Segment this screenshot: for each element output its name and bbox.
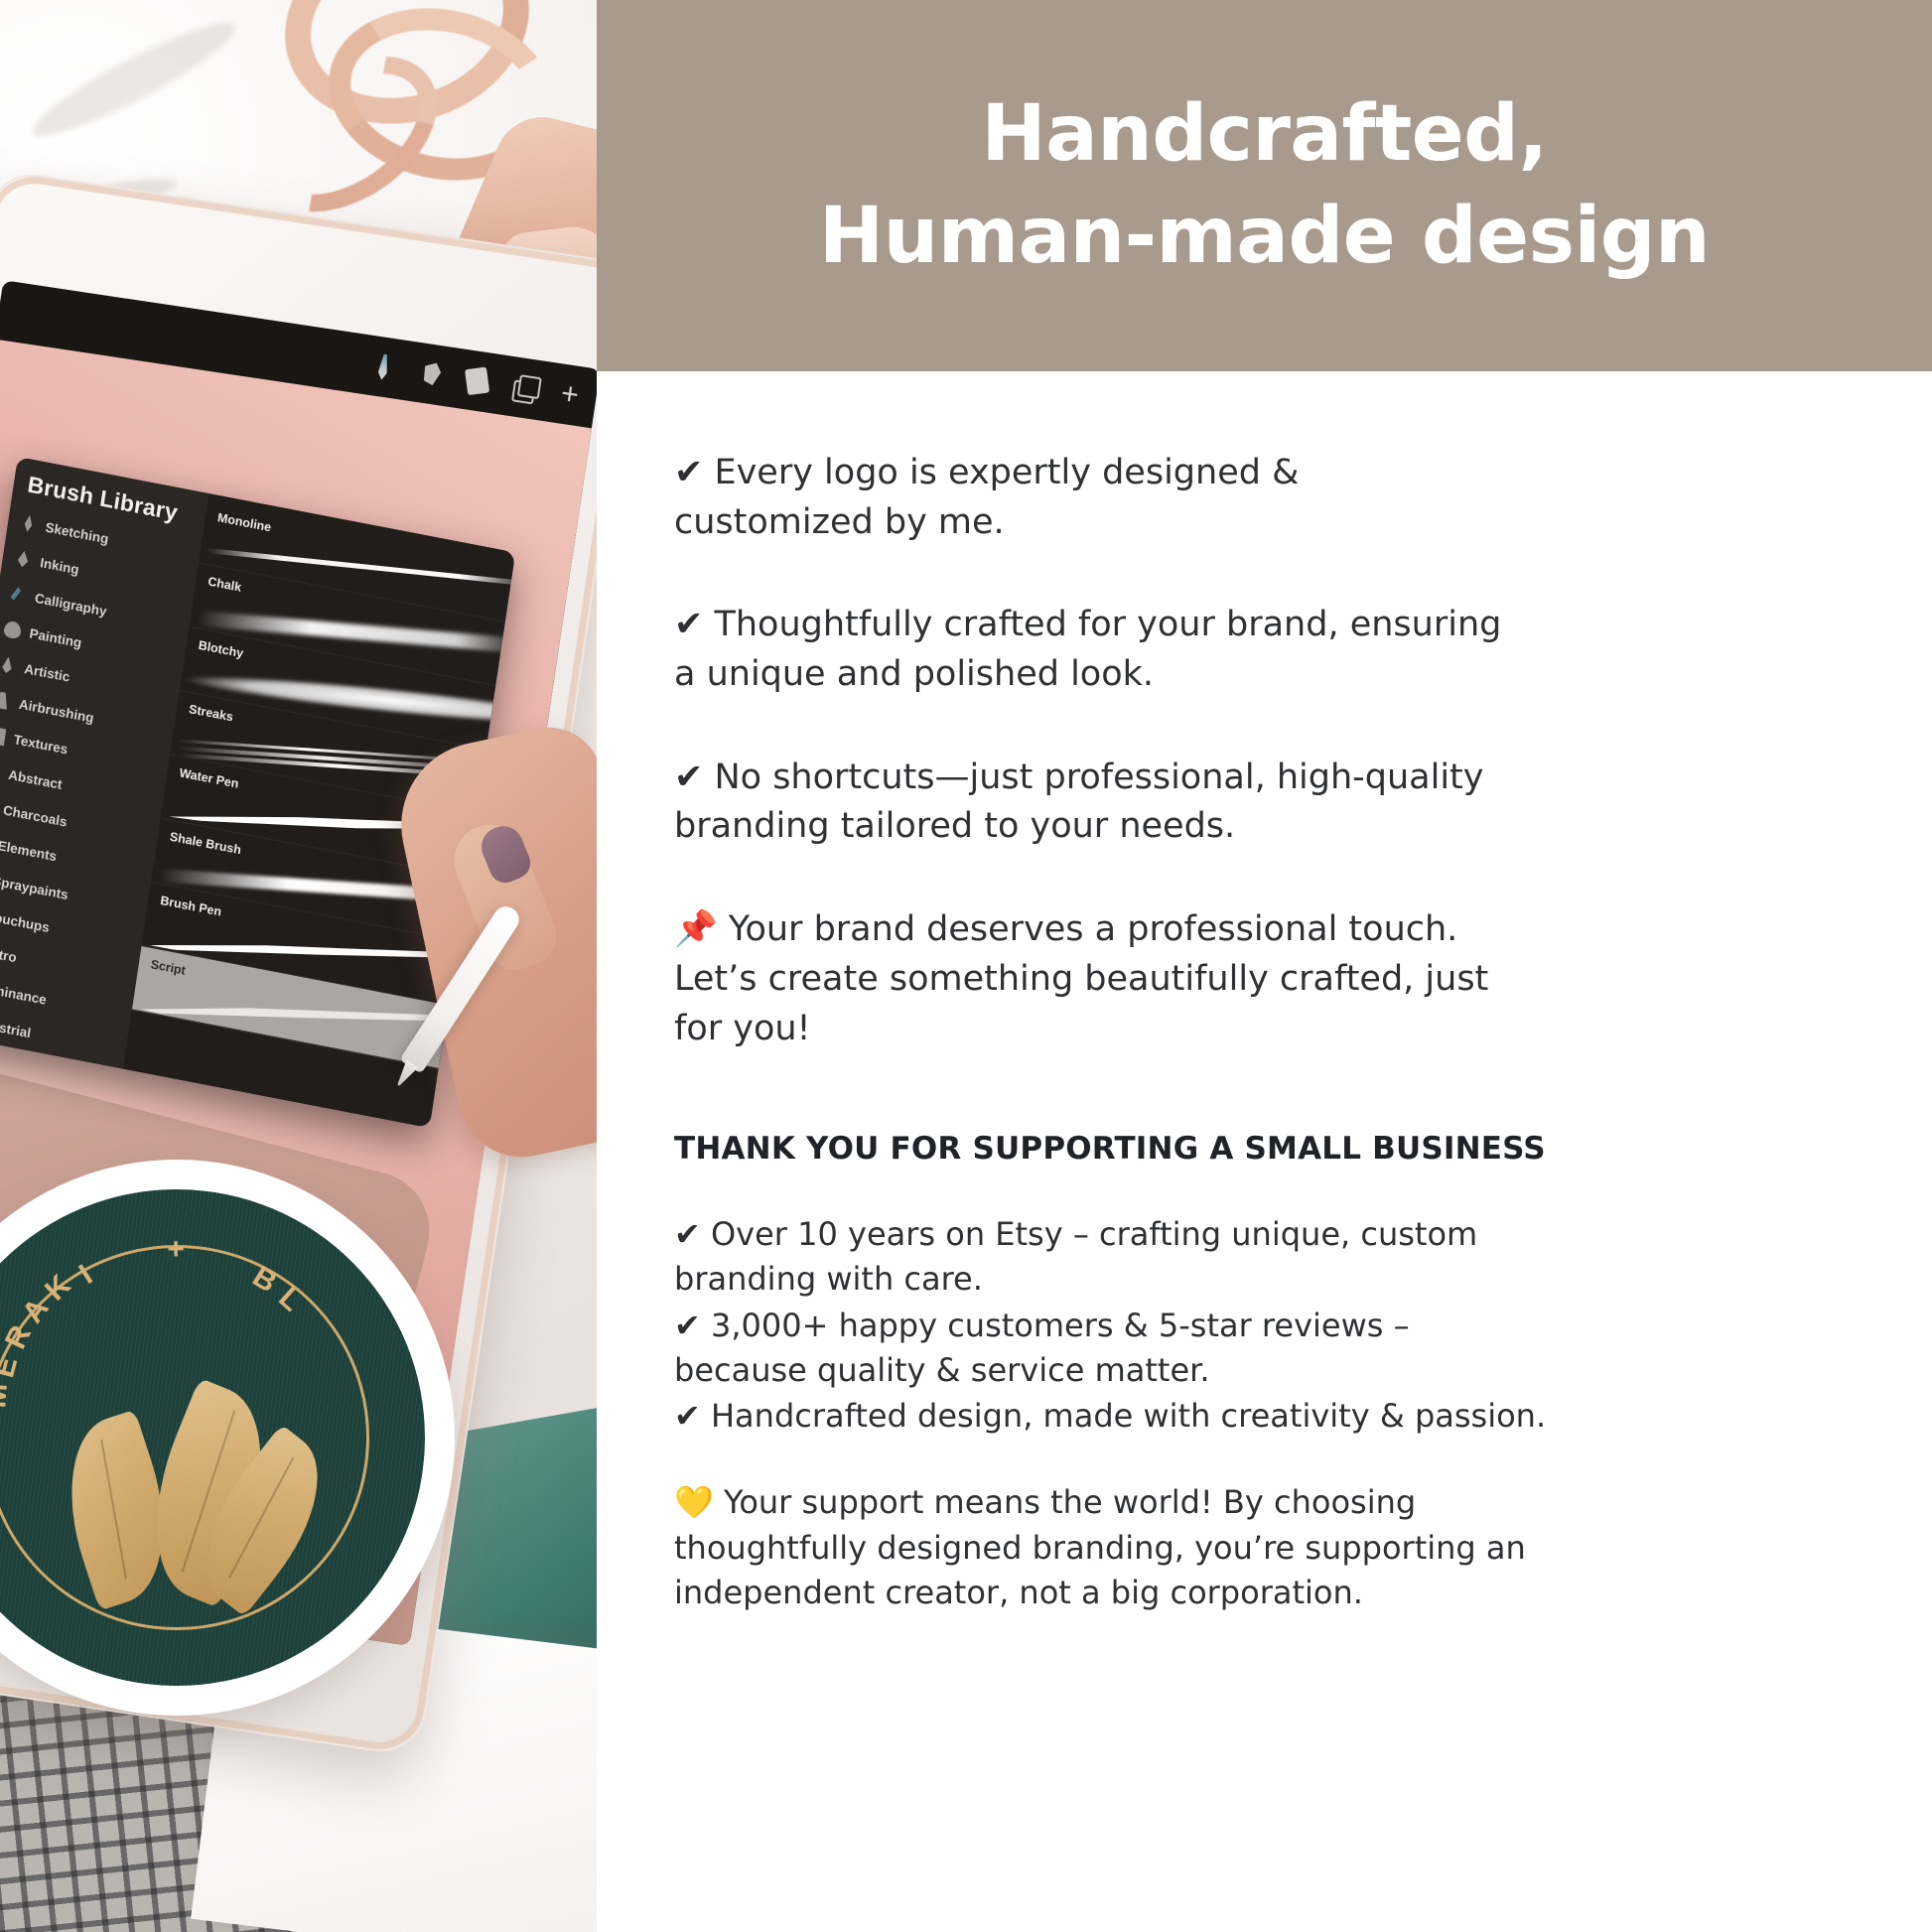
category-label: Charcoals xyxy=(2,802,68,829)
badge-letter: B xyxy=(247,1260,284,1301)
brush-label: Chalk xyxy=(207,574,243,594)
check-mark-icon: ✔ xyxy=(674,605,703,644)
category-label: Textures xyxy=(13,732,69,757)
calligraphy-icon xyxy=(8,584,27,604)
category-label: Calligraphy xyxy=(34,590,107,619)
badge-letter: + xyxy=(167,1233,186,1267)
eraser-icon[interactable] xyxy=(465,367,489,396)
check-mark-icon: ✔ xyxy=(674,758,703,797)
list-item: ✔ 3,000+ happy customers & 5-star review… xyxy=(674,1304,1548,1393)
painting-icon xyxy=(3,620,22,639)
list-item: ✔ Handcrafted design, made with creativi… xyxy=(674,1394,1548,1439)
pushpin-icon: 📌 xyxy=(674,909,718,949)
title-line-1: Handcrafted, xyxy=(981,89,1547,179)
category-label: Airbrushing xyxy=(18,696,94,725)
badge-letter: E xyxy=(0,1352,26,1381)
category-label: Industrial xyxy=(0,1015,32,1040)
check-mark-icon: ✔ xyxy=(674,1215,701,1253)
brush-label: Blotchy xyxy=(198,638,244,661)
brush-label: Water Pen xyxy=(179,765,240,790)
check-mark-icon: ✔ xyxy=(674,453,703,492)
smudge-icon[interactable] xyxy=(418,359,444,388)
brush-label: Streaks xyxy=(188,702,233,724)
list-item-text: Thoughtfully crafted for your brand, ens… xyxy=(674,605,1501,694)
abstract-icon xyxy=(0,760,1,780)
list-item-text: Every logo is expertly designed & custom… xyxy=(674,453,1299,542)
airbrushing-icon xyxy=(0,690,12,710)
list-item-text: 3,000+ happy customers & 5-star reviews … xyxy=(674,1307,1410,1389)
list-item-text: Over 10 years on Etsy – crafting unique,… xyxy=(674,1215,1477,1298)
yellow-heart-icon: 💛 xyxy=(674,1483,714,1521)
category-label: Artistic xyxy=(23,660,70,684)
badge-letter: R xyxy=(0,1319,39,1354)
headline-banner: Handcrafted, Human-made design xyxy=(597,0,1932,371)
credentials-list: ✔ Over 10 years on Etsy – crafting uniqu… xyxy=(674,1212,1868,1439)
textures-icon xyxy=(0,726,6,746)
list-item: ✔ No shortcuts—just professional, high-q… xyxy=(674,754,1508,852)
sketching-icon xyxy=(19,513,38,533)
list-item-text: Your brand deserves a professional touch… xyxy=(674,909,1488,1047)
category-label: Abstract xyxy=(8,766,64,791)
brush-label: Brush Pen xyxy=(159,894,222,919)
category-label: Luminance xyxy=(0,979,48,1007)
category-label: Sketching xyxy=(45,519,110,546)
list-item-text: Handcrafted design, made with creativity… xyxy=(711,1397,1546,1435)
thank-you-heading: THANK YOU FOR SUPPORTING A SMALL BUSINES… xyxy=(674,1131,1868,1167)
brush-label: Monoline xyxy=(216,510,272,534)
badge-letter: I xyxy=(73,1258,99,1292)
artistic-icon xyxy=(0,655,17,675)
list-item: ✔ Over 10 years on Etsy – crafting uniqu… xyxy=(674,1212,1548,1302)
logo-badge: MERAKI+BL xyxy=(0,1165,450,1711)
list-item: ✔ Every logo is expertly designed & cust… xyxy=(674,449,1508,547)
list-item-text: No shortcuts—just professional, high-qua… xyxy=(674,758,1484,847)
layers-icon[interactable] xyxy=(512,374,538,403)
list-item: 📌 Your brand deserves a professional tou… xyxy=(674,905,1508,1053)
check-mark-icon: ✔ xyxy=(674,1397,701,1435)
benefit-list: ✔ Every logo is expertly designed & cust… xyxy=(674,449,1868,1053)
title-line-2: Human-made design xyxy=(819,192,1710,281)
brush-label: Script xyxy=(150,957,187,978)
category-label: Touchups xyxy=(0,908,51,935)
badge-letter: L xyxy=(271,1281,308,1318)
category-label: Painting xyxy=(29,625,83,650)
check-mark-icon: ✔ xyxy=(674,1307,701,1344)
list-item: ✔ Thoughtfully crafted for your brand, e… xyxy=(674,601,1508,699)
category-label: Inking xyxy=(39,555,79,577)
category-label: Retro xyxy=(0,943,18,965)
inking-icon xyxy=(14,549,33,569)
badge-letter: M xyxy=(0,1381,15,1409)
stroke-preview xyxy=(140,988,448,1039)
closing-paragraph: 💛 Your support means the world! By choos… xyxy=(674,1480,1548,1615)
brush-icon[interactable] xyxy=(370,352,396,381)
category-label: Spraypaints xyxy=(0,873,69,901)
category-label: Elements xyxy=(0,838,58,864)
closing-text: Your support means the world! By choosin… xyxy=(674,1483,1526,1611)
copy-column: Handcrafted, Human-made design ✔ Every l… xyxy=(597,0,1932,1932)
promo-graphic: + Brush Library Sketching Inking Calligr… xyxy=(0,0,1932,1932)
closing-note: 💛 Your support means the world! By choos… xyxy=(674,1480,1868,1615)
badge-letter: A xyxy=(16,1292,57,1329)
product-photo: + Brush Library Sketching Inking Calligr… xyxy=(0,0,597,1932)
add-layer-button[interactable]: + xyxy=(559,379,581,411)
page-title: Handcrafted, Human-made design xyxy=(819,83,1710,288)
copy-body: ✔ Every logo is expertly designed & cust… xyxy=(597,371,1932,1615)
brush-label: Shale Brush xyxy=(169,830,242,858)
